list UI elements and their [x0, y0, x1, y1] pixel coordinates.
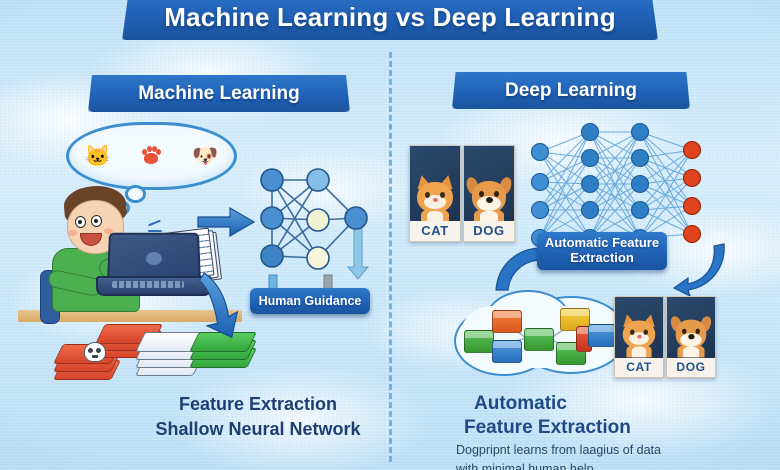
edge-vignette — [0, 0, 780, 470]
infographic-canvas: Machine Learning vs Deep Learning Machin… — [0, 0, 780, 470]
